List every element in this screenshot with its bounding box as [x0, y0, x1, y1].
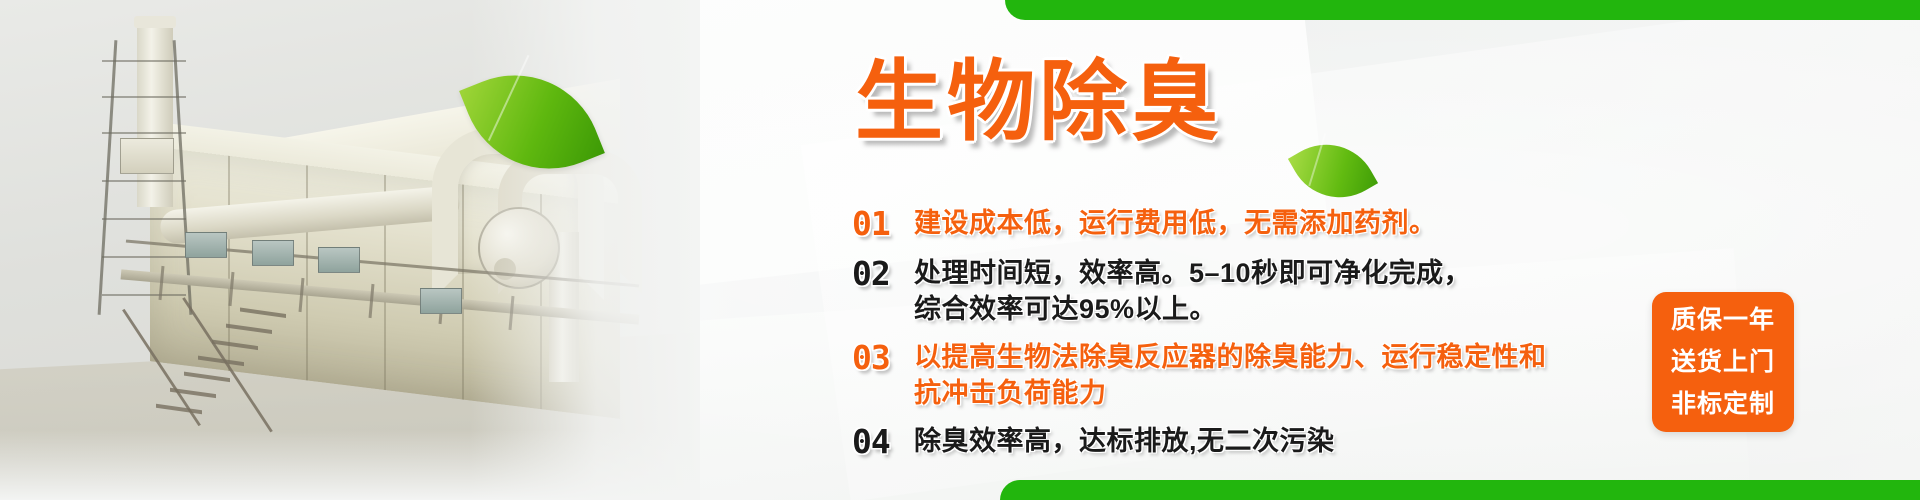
- feature-number: 03: [852, 339, 914, 377]
- feature-number: 01: [852, 205, 914, 243]
- banner-headline: 生物除臭: [855, 58, 1223, 146]
- feature-text: 除臭效率高，达标排放,无二次污染: [914, 423, 1592, 459]
- feature-text: 处理时间短，效率高。5–10秒即可净化完成， 综合效率可达95%以上。: [914, 255, 1592, 327]
- feature-number: 02: [852, 255, 914, 293]
- feature-list: 01 建设成本低，运行费用低，无需添加药剂。 02 处理时间短，效率高。5–10…: [852, 205, 1592, 473]
- feature-item-03: 03 以提高生物法除臭反应器的除臭能力、运行稳定性和 抗冲击负荷能力: [852, 339, 1592, 411]
- badge-line: 送货上门: [1671, 341, 1775, 383]
- feature-item-02: 02 处理时间短，效率高。5–10秒即可净化完成， 综合效率可达95%以上。: [852, 255, 1592, 327]
- feature-number: 04: [852, 423, 914, 461]
- feature-text-line: 综合效率可达95%以上。: [914, 294, 1217, 324]
- feature-text-line: 以提高生物法除臭反应器的除臭能力、运行稳定性和: [914, 342, 1547, 372]
- badge-line: 质保一年: [1671, 299, 1775, 341]
- feature-text: 以提高生物法除臭反应器的除臭能力、运行稳定性和 抗冲击负荷能力: [914, 339, 1592, 411]
- service-guarantee-badge: 质保一年 送货上门 非标定制: [1652, 292, 1794, 432]
- feature-text-line: 除臭效率高，达标排放,无二次污染: [914, 426, 1335, 456]
- feature-text-line: 抗冲击负荷能力: [914, 378, 1107, 408]
- promo-banner: 生物除臭 01 建设成本低，运行费用低，无需添加药剂。 02 处理时间短，效率高…: [0, 0, 1920, 500]
- badge-line: 非标定制: [1671, 383, 1775, 425]
- feature-item-04: 04 除臭效率高，达标排放,无二次污染: [852, 423, 1592, 461]
- feature-text: 建设成本低，运行费用低，无需添加药剂。: [914, 205, 1592, 241]
- feature-text-line: 处理时间短，效率高。5–10秒即可净化完成，: [914, 258, 1471, 288]
- banner-content: 生物除臭 01 建设成本低，运行费用低，无需添加药剂。 02 处理时间短，效率高…: [0, 0, 1920, 500]
- feature-item-01: 01 建设成本低，运行费用低，无需添加药剂。: [852, 205, 1592, 243]
- feature-text-line: 建设成本低，运行费用低，无需添加药剂。: [914, 208, 1437, 238]
